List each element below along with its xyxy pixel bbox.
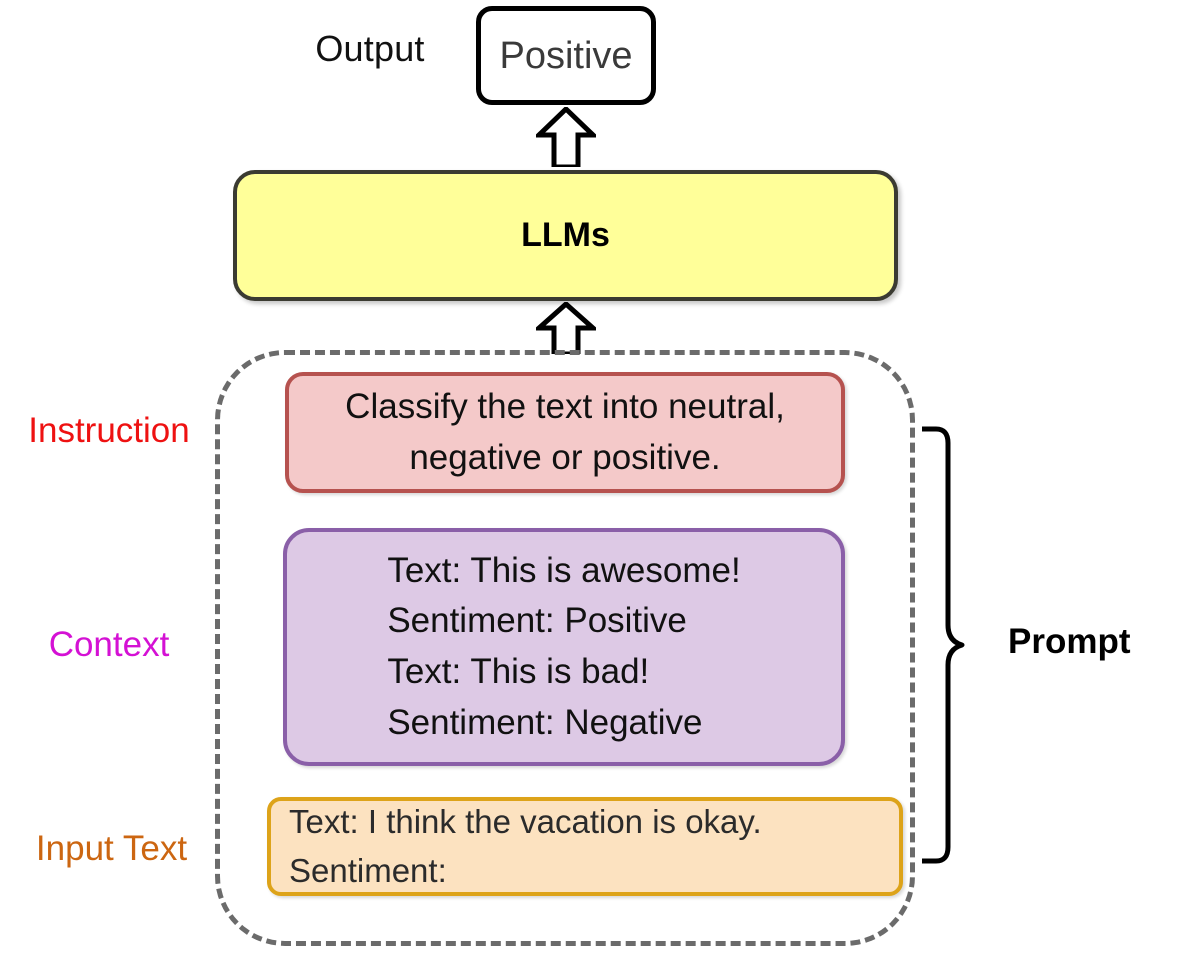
context-box: Text: This is awesome! Sentiment: Positi…	[283, 528, 845, 766]
output-value-box: Positive	[476, 6, 656, 105]
input-text-box: Text: I think the vacation is okay. Sent…	[267, 797, 903, 896]
arrow-prompt-to-llms-icon	[536, 302, 596, 354]
output-value-text: Positive	[499, 37, 632, 75]
prompt-brace-icon	[920, 425, 966, 865]
diagram-canvas: Output Positive LLMs Classify the text i…	[0, 0, 1200, 961]
llms-box: LLMs	[233, 170, 898, 301]
input-text-label: Input Text	[4, 830, 219, 869]
prompt-label: Prompt	[1008, 622, 1131, 662]
instruction-text: Classify the text into neutral, negative…	[345, 382, 785, 484]
input-text-text: Text: I think the vacation is okay. Sent…	[289, 798, 899, 895]
instruction-box: Classify the text into neutral, negative…	[285, 372, 845, 493]
context-label: Context	[4, 626, 214, 665]
llms-label: LLMs	[521, 216, 610, 255]
arrow-llms-to-output-icon	[536, 107, 596, 167]
context-text: Text: This is awesome! Sentiment: Positi…	[387, 546, 740, 749]
instruction-label: Instruction	[4, 412, 214, 451]
output-label: Output	[270, 28, 470, 70]
